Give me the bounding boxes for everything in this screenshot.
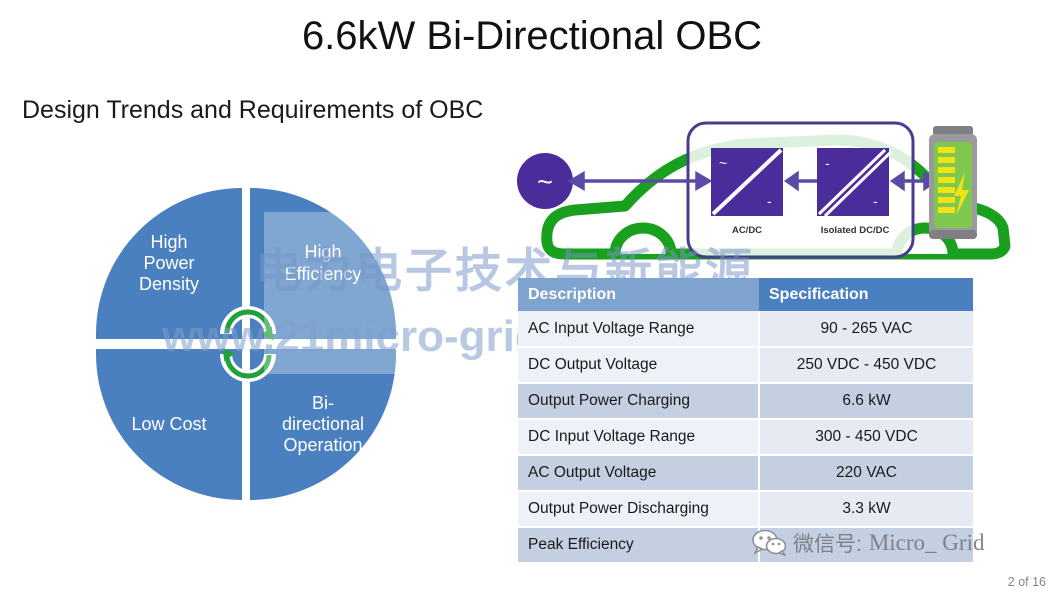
svg-text:-: - <box>873 193 878 209</box>
obc-specification-table: Description Specification AC Input Volta… <box>518 278 973 564</box>
cell-specification: 90 - 265 VAC <box>759 311 973 347</box>
table-row: DC Input Voltage Range 300 - 450 VDC <box>518 419 973 455</box>
cell-specification: 6.6 kW <box>759 383 973 419</box>
cell-specification <box>759 527 973 563</box>
cell-specification: 250 VDC - 450 VDC <box>759 347 973 383</box>
table-row: Output Power Discharging 3.3 kW <box>518 491 973 527</box>
cell-specification: 300 - 450 VDC <box>759 419 973 455</box>
acdc-block-label: AC/DC <box>732 225 762 236</box>
quadrant-bi-directional-operation: Bi-directionalOperation <box>250 349 396 500</box>
page-subtitle: Design Trends and Requirements of OBC <box>22 96 483 125</box>
isolated-dcdc-block: - - <box>817 148 891 216</box>
acdc-block: ~ - <box>711 148 783 216</box>
table-row: DC Output Voltage 250 VDC - 450 VDC <box>518 347 973 383</box>
table-row: Output Power Charging 6.6 kW <box>518 383 973 419</box>
column-header-description: Description <box>518 278 759 311</box>
battery-charging-icon <box>929 126 977 239</box>
obc-block-diagram: ~ ~ - AC/DC - - Isolated DC <box>505 100 1061 280</box>
table-row: AC Output Voltage 220 VAC <box>518 455 973 491</box>
quadrant-label: HighEfficiency <box>285 242 362 284</box>
cell-description: Peak Efficiency <box>518 527 759 563</box>
quadrant-low-cost: Low Cost <box>96 349 242 500</box>
quadrant-label: HighPowerDensity <box>139 232 199 296</box>
column-header-specification: Specification <box>759 278 973 311</box>
cell-specification: 220 VAC <box>759 455 973 491</box>
ac-symbol: ~ <box>537 167 553 197</box>
design-requirements-quadrant: HighPowerDensity HighEfficiency Low Cost… <box>96 188 396 500</box>
cell-description: Output Power Discharging <box>518 491 759 527</box>
cell-description: DC Input Voltage Range <box>518 419 759 455</box>
cell-specification: 3.3 kW <box>759 491 973 527</box>
svg-text:-: - <box>767 193 772 209</box>
page-number: 2 of 16 <box>1008 575 1046 589</box>
svg-text:~: ~ <box>719 155 727 171</box>
slide-canvas: 6.6kW Bi-Directional OBC Design Trends a… <box>0 0 1064 595</box>
quadrant-label: Bi-directionalOperation <box>282 393 364 457</box>
table-row: Peak Efficiency <box>518 527 973 563</box>
cell-description: AC Input Voltage Range <box>518 311 759 347</box>
cell-description: DC Output Voltage <box>518 347 759 383</box>
cell-description: Output Power Charging <box>518 383 759 419</box>
table-header-row: Description Specification <box>518 278 973 311</box>
quadrant-high-efficiency: HighEfficiency <box>250 188 396 339</box>
svg-text:-: - <box>825 155 830 171</box>
quadrant-high-power-density: HighPowerDensity <box>96 188 242 339</box>
isolated-dcdc-block-label: Isolated DC/DC <box>821 225 890 236</box>
cell-description: AC Output Voltage <box>518 455 759 491</box>
page-title: 6.6kW Bi-Directional OBC <box>0 14 1064 59</box>
table-row: AC Input Voltage Range 90 - 265 VAC <box>518 311 973 347</box>
quadrant-label: Low Cost <box>131 414 206 435</box>
